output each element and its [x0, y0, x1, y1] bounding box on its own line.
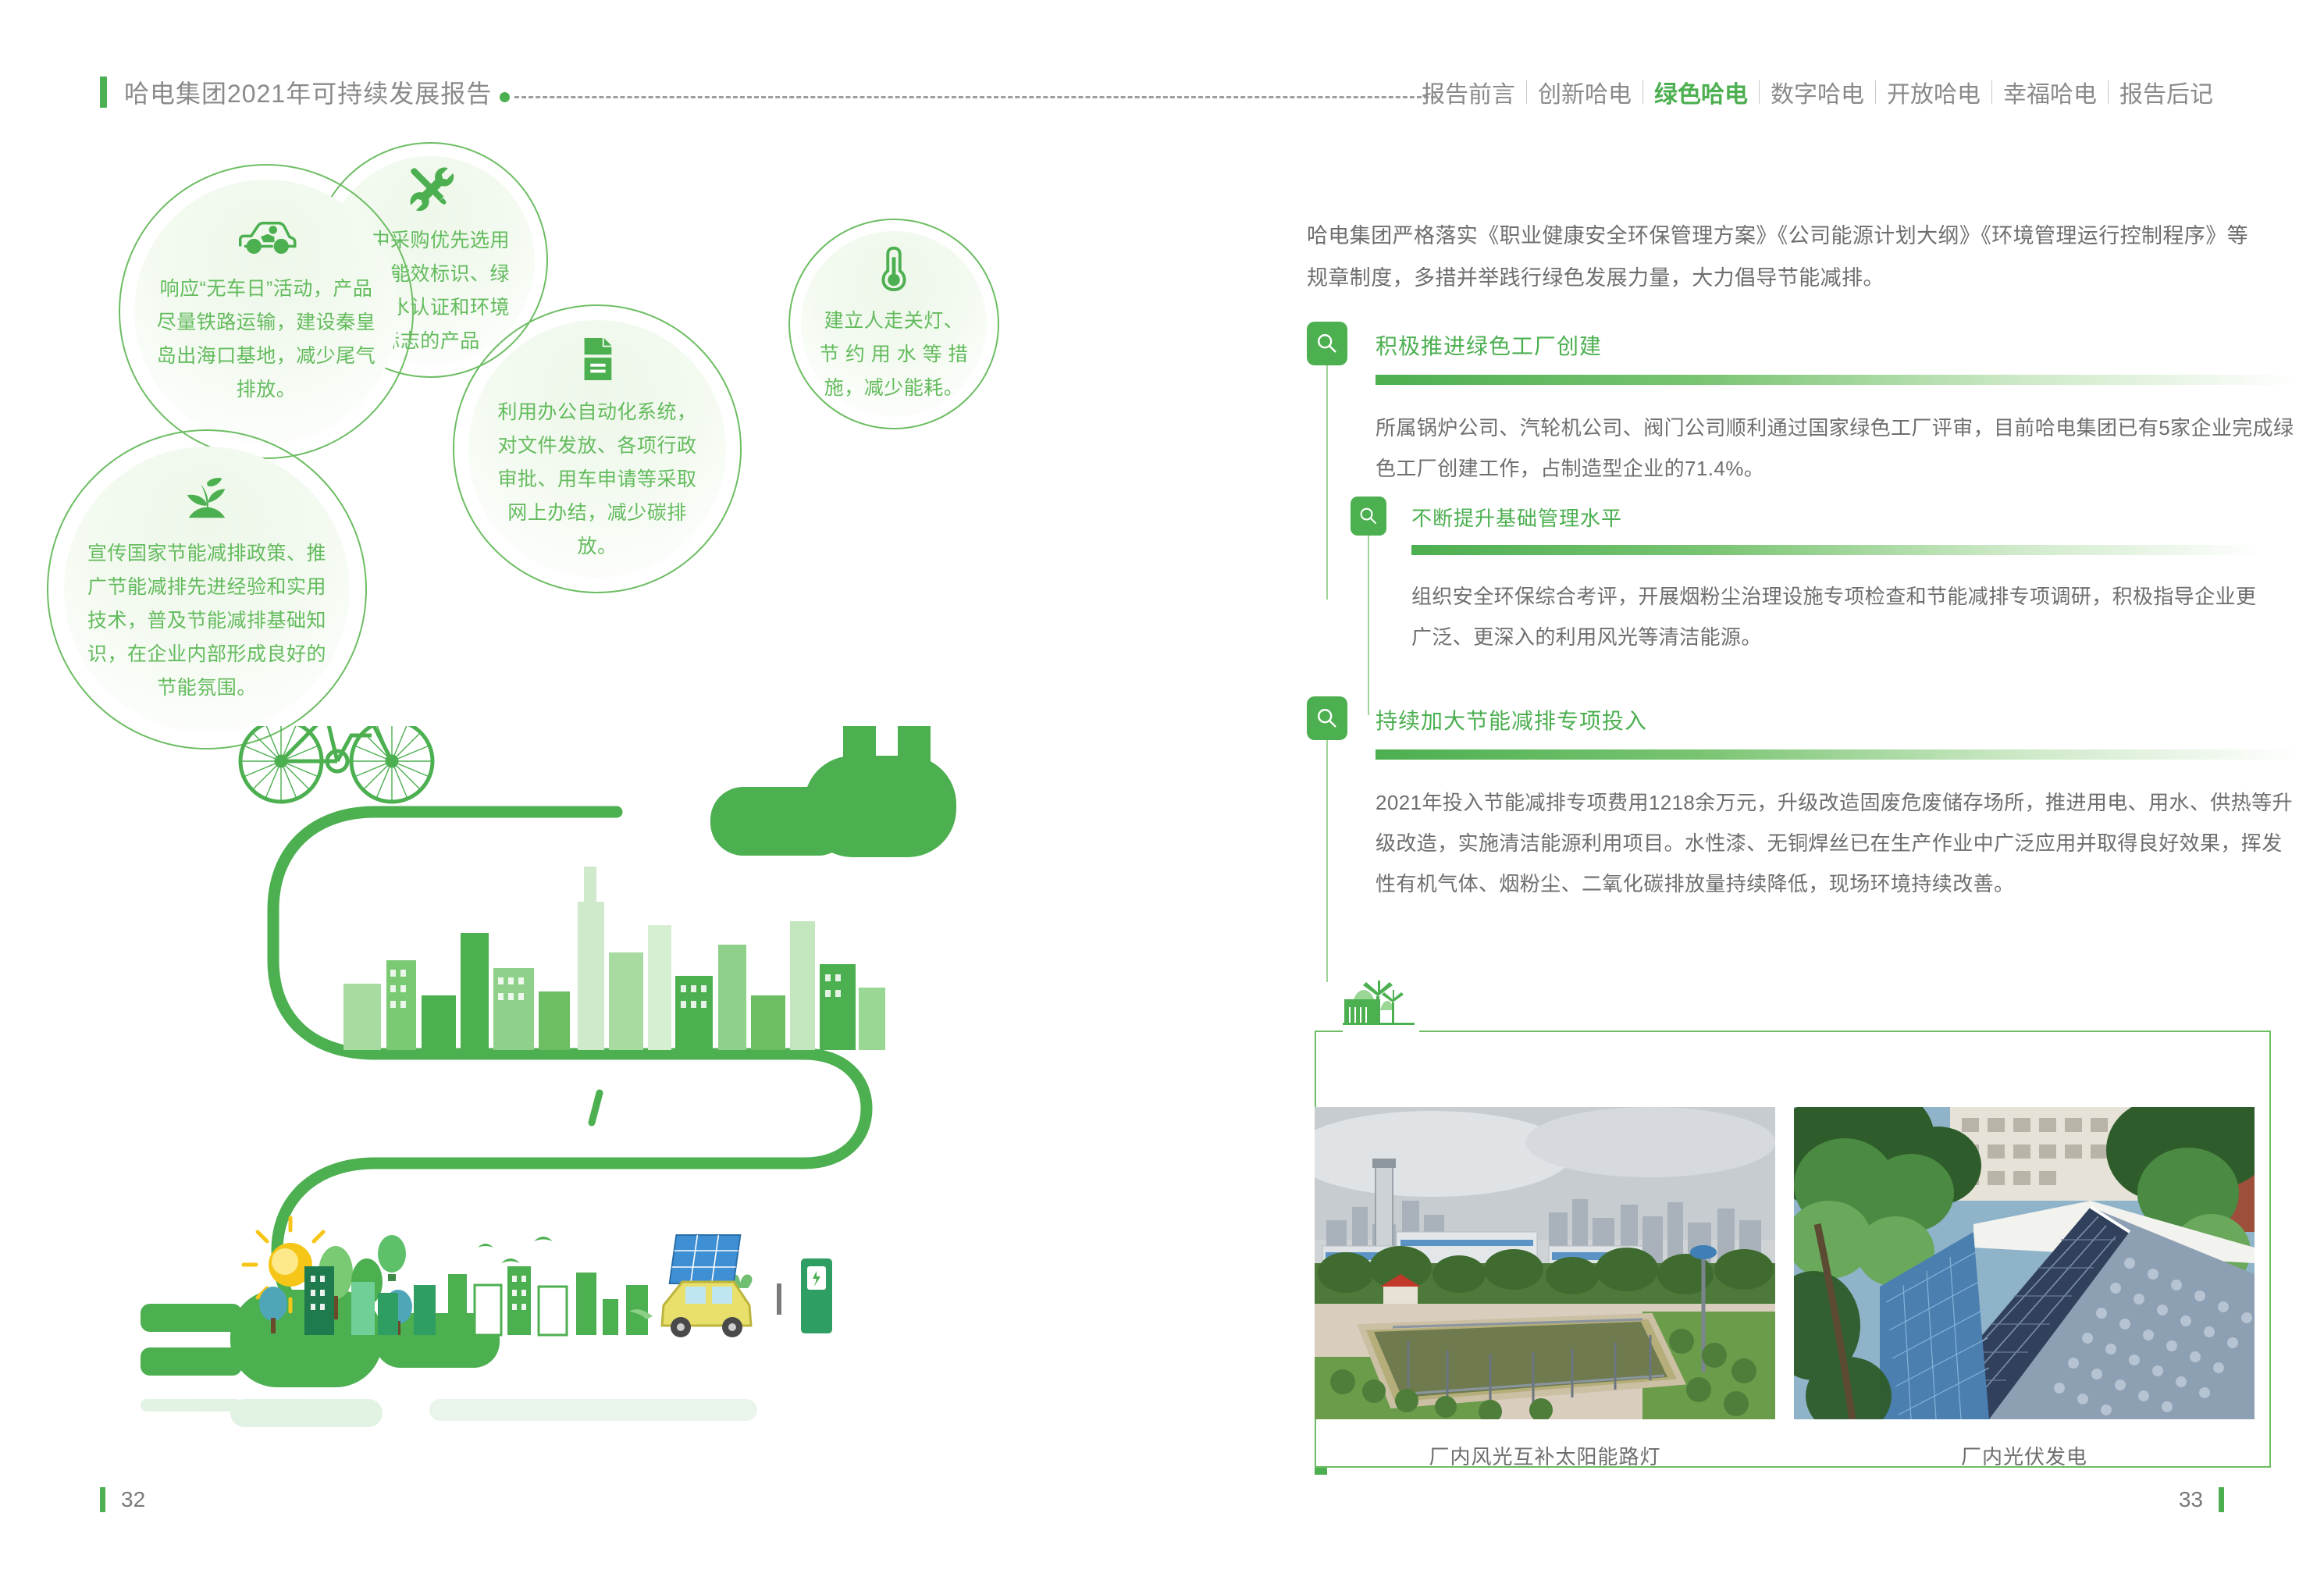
nav-item-1[interactable]: 创新哈电 [1527, 75, 1642, 109]
page-number-right: 33 [2179, 1487, 2203, 1512]
green-energy-plug-cable-illustration [117, 726, 1148, 1429]
bubble-text-sprout: 宣传国家节能减排政策、推广节能减排先进经验和实用技术，普及节能减排基础知识，在企… [87, 537, 326, 705]
title-accent-bar [100, 77, 107, 108]
page-accent-bar [100, 1487, 105, 1512]
section-stem-line [1368, 536, 1369, 715]
page-title: 哈电集团2021年可持续发展报告 [124, 74, 492, 110]
chapter-nav[interactable]: 报告前言创新哈电绿色哈电数字哈电开放哈电幸福哈电报告后记 [1411, 75, 2224, 109]
bubble-thermometer[interactable]: 建立人走关灯、节 约 用 水 等 措施，减少能耗。 [801, 231, 987, 417]
photo-caption: 厂内光伏发电 [1794, 1441, 2255, 1470]
search-icon [1307, 322, 1347, 365]
bubble-text-car: 响应“无车日”活动，产品尽量铁路运输，建设秦皇岛出海口基地，减少尾气排放。 [155, 272, 377, 407]
hydro-wind-plant-icon [1343, 979, 1419, 1034]
factory-photovoltaic-power-photo [1794, 1107, 2255, 1419]
search-icon [1307, 696, 1347, 740]
footer-right: 33 [2179, 1487, 2224, 1512]
section-stem-line [1326, 365, 1328, 600]
nav-item-5[interactable]: 幸福哈电 [1992, 75, 2108, 109]
page-accent-bar [2219, 1487, 2224, 1512]
search-icon [1351, 497, 1386, 536]
thermometer-icon [880, 244, 908, 292]
bubble-printer[interactable]: 利用办公自动化系统，对文件发放、各项行政审批、用车申请等采取网上办结，减少碳排放… [468, 320, 726, 578]
report-spread: 哈电集团2021年可持续发展报告 报告前言创新哈电绿色哈电数字哈电开放哈电幸福哈… [0, 0, 2324, 1577]
section-body: 组织安全环保综合考评，开展烟粉尘治理设施专项检查和节能减排专项调研，积极指导企业… [1411, 576, 2262, 657]
bubble-text-printer: 利用办公自动化系统，对文件发放、各项行政审批、用车申请等采取网上办结，减少碳排放… [489, 396, 705, 564]
nav-item-4[interactable]: 开放哈电 [1876, 75, 1991, 109]
section-title: 不断提升基础管理水平 [1411, 503, 1622, 532]
section-management-level: 不断提升基础管理水平 组织安全环保综合考评，开展烟粉尘治理设施专项检查和节能减排… [1351, 497, 2324, 554]
sprout-icon [181, 475, 233, 525]
tools-icon [406, 163, 454, 212]
nav-item-2[interactable]: 绿色哈电 [1643, 75, 1759, 109]
section-gradient-rule [1411, 545, 2262, 555]
header-dashed-divider [500, 92, 1436, 102]
page-header: 哈电集团2021年可持续发展报告 报告前言创新哈电绿色哈电数字哈电开放哈电幸福哈… [0, 0, 2324, 133]
photo-caption: 厂内风光互补太阳能路灯 [1315, 1441, 1775, 1470]
section-body: 所属锅炉公司、汽轮机公司、阀门公司顺利通过国家绿色工厂评审，目前哈电集团已有5家… [1376, 408, 2297, 489]
nav-item-0[interactable]: 报告前言 [1411, 75, 1526, 109]
divider-dot-icon [500, 92, 510, 102]
left-page: 集中采购优先选用具有能效标识、绿色节水认证和环境标志的产品 响应“无车日”活动，… [0, 133, 1280, 1444]
header-title-group: 哈电集团2021年可持续发展报告 [100, 74, 492, 110]
section-energy-saving-investment: 持续加大节能减排专项投入 2021年投入节能减排专项费用1218余万元，升级改造… [1307, 696, 2298, 754]
car-icon [233, 216, 299, 260]
factory-solar-street-light-photo [1315, 1107, 1775, 1419]
section-title: 积极推进绿色工厂创建 [1376, 329, 1602, 361]
printer-icon [575, 335, 619, 383]
bubble-car[interactable]: 响应“无车日”活动，产品尽量铁路运输，建设秦皇岛出海口基地，减少尾气排放。 [134, 180, 398, 443]
nav-item-3[interactable]: 数字哈电 [1760, 75, 1875, 109]
section-body: 2021年投入节能减排专项费用1218余万元，升级改造固废危废储存场所，推进用电… [1376, 782, 2298, 904]
bubble-text-thermometer: 建立人走关灯、节 约 用 水 等 措施，减少能耗。 [816, 304, 972, 405]
bubble-sprout[interactable]: 宣传国家节能减排政策、推广节能减排先进经验和实用技术，普及节能减排基础知识，在企… [64, 447, 350, 732]
photo-gallery: 厂内风光互补太阳能路灯 [1315, 1107, 2271, 1470]
footer-left: 32 [100, 1487, 145, 1512]
section-gradient-rule [1376, 749, 2298, 760]
right-page: 哈电集团严格落实《职业健康安全环保管理方案》《公司能源计划大纲》《环境管理运行控… [1280, 133, 2324, 1444]
photo-item[interactable]: 厂内风光互补太阳能路灯 [1315, 1107, 1775, 1470]
section-gradient-rule [1376, 375, 2298, 385]
section-green-factory: 积极推进绿色工厂创建 所属锅炉公司、汽轮机公司、阀门公司顺利通过国家绿色工厂评审… [1307, 322, 2298, 379]
intro-paragraph: 哈电集团严格落实《职业健康安全环保管理方案》《公司能源计划大纲》《环境管理运行控… [1307, 215, 2267, 299]
divider-dash-line [514, 96, 1436, 98]
nav-item-6[interactable]: 报告后记 [2109, 75, 2224, 109]
section-title: 持续加大节能减排专项投入 [1376, 704, 1647, 735]
photo-item[interactable]: 厂内光伏发电 [1794, 1107, 2255, 1470]
section-stem-line [1326, 740, 1328, 982]
page-number-left: 32 [121, 1487, 145, 1512]
